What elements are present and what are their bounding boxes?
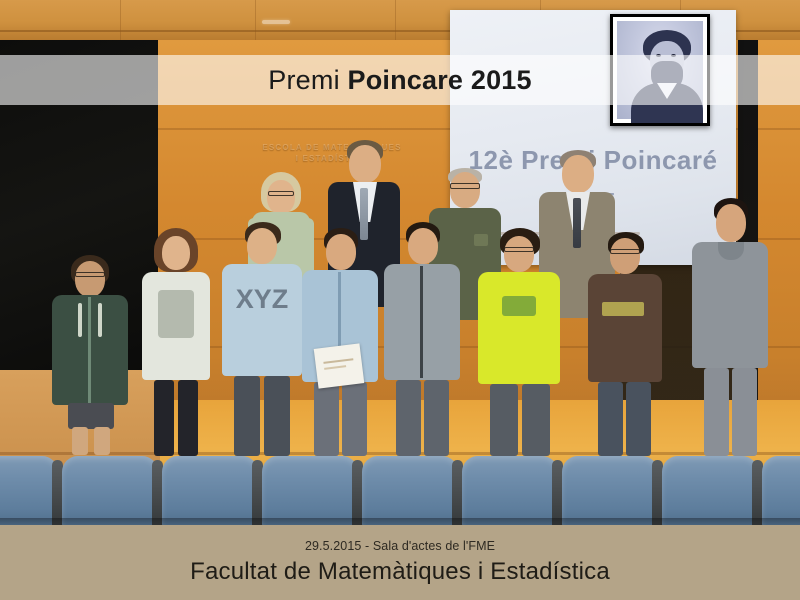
person-student-4 [302, 228, 378, 456]
title-banner: Premi Poincare 2015 [0, 55, 800, 105]
title-bold: Poincare 2015 [348, 65, 532, 95]
person-student-8 [692, 198, 768, 456]
caption-band: 29.5.2015 - Sala d'actes de l'FME Facult… [0, 525, 800, 600]
auditorium-seat-row [0, 448, 800, 528]
photo-slide: ESCOLA DE MATEMÀTIQUES I ESTADÍSTICA 12è… [0, 0, 800, 600]
person-student-7 [588, 232, 662, 456]
page-title: Premi Poincare 2015 [268, 65, 531, 96]
caption-date-venue: 29.5.2015 - Sala d'actes de l'FME [305, 539, 495, 553]
person-student-3: XYZ [222, 222, 302, 456]
person-student-6 [478, 228, 560, 456]
person-student-2 [140, 228, 212, 456]
title-regular: Premi [268, 65, 347, 95]
award-certificate [314, 343, 365, 388]
person-student-5 [384, 222, 460, 456]
person-student-1 [52, 255, 128, 455]
caption-institution: Facultat de Matemàtiques i Estadística [190, 558, 610, 586]
